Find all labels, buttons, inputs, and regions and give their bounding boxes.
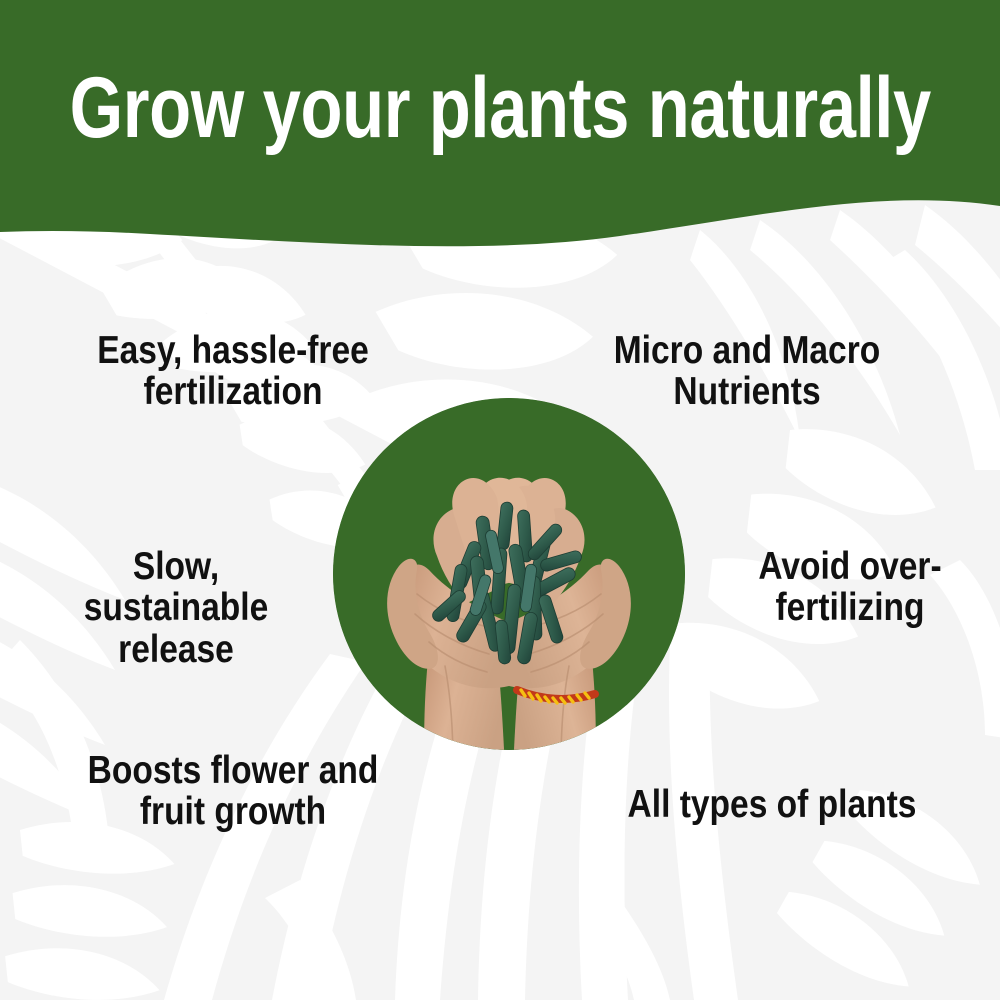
feature-all-types-of-plants: All types of plants [617,784,927,825]
header-title-area: Grow your plants naturally [0,0,1000,215]
page-title: Grow your plants naturally [69,65,930,151]
feature-boosts-flower-and-fruit-growth: Boosts flower and fruit growth [74,750,392,833]
feature-micro-and-macro-nutrients: Micro and Macro Nutrients [588,330,906,413]
feature-avoid-over-fertilizing: Avoid over- fertilizing [721,546,979,629]
feature-slow-sustainable-release: Slow, sustainable release [38,546,313,670]
feature-easy-hassle-free-fertilization: Easy, hassle-free fertilization [74,330,392,413]
hands-holding-fertilizer-sticks-illustration [333,398,685,750]
product-photo-circle [333,398,685,750]
poster-canvas: Grow your plants naturally Easy, hassle-… [0,0,1000,1000]
